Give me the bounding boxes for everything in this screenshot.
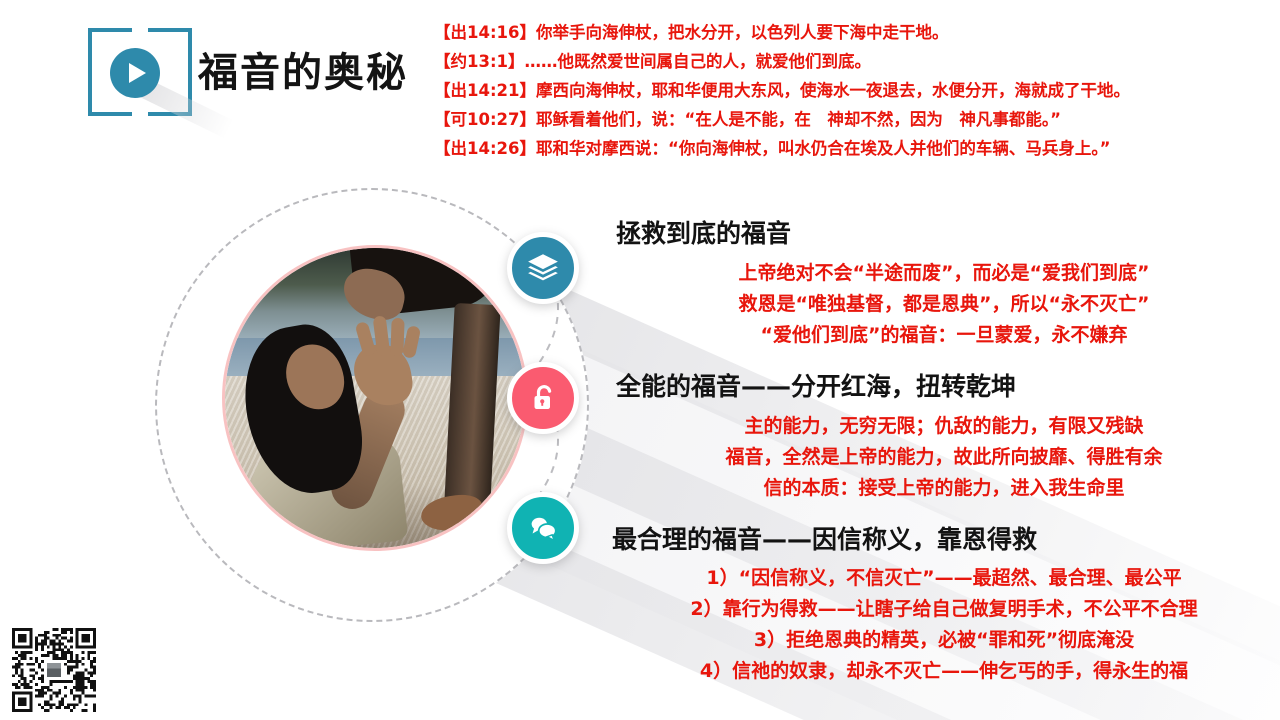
speech-bubbles-icon[interactable] — [507, 492, 579, 564]
scripture-list: 【出14:16】你举手向海伸杖，把水分开，以色列人要下海中走干地。 【约13:1… — [434, 18, 1280, 163]
unlock-icon[interactable] — [507, 362, 579, 434]
section-line: 福音，全然是上帝的能力，故此所向披靡、得胜有余 — [612, 442, 1276, 473]
section-body: 1）“因信称义，不信灭亡”——最超然、最合理、最公平 2）靠行为得救——让瞎子给… — [612, 563, 1276, 687]
section-line: 救恩是“唯独基督，都是恩典”，所以“永不灭亡” — [612, 289, 1276, 320]
slide-canvas: 福音的奥秘 【出14:16】你举手向海伸杖，把水分开，以色列人要下海中走干地。 … — [0, 0, 1280, 720]
layers-icon[interactable] — [507, 232, 579, 304]
section-line: 信的本质：接受上帝的能力，进入我生命里 — [612, 473, 1276, 504]
kneeling-woman-reaching-hand-photo — [225, 248, 525, 548]
section-line: 主的能力，无穷无限；仇敌的能力，有限又残缺 — [612, 411, 1276, 442]
logo-block: 福音的奥秘 — [88, 28, 438, 124]
section-line: 1）“因信称义，不信灭亡”——最超然、最合理、最公平 — [612, 563, 1276, 594]
page-title: 福音的奥秘 — [198, 40, 408, 98]
section-body: 上帝绝对不会“半途而废”，而必是“爱我们到底” 救恩是“唯独基督，都是恩典”，所… — [612, 258, 1276, 351]
scripture-line: 【出14:21】摩西向海伸杖，耶和华便用大东风，使海水一夜退去，水便分开，海就成… — [434, 76, 1280, 105]
section-body: 主的能力，无穷无限；仇敌的能力，有限又残缺 福音，全然是上帝的能力，故此所向披靡… — [612, 411, 1276, 504]
scripture-line: 【约13:1】……他既然爱世间属自己的人，就爱他们到底。 — [434, 47, 1280, 76]
section-line: “爱他们到底”的福音：一旦蒙爱，永不嫌弃 — [612, 320, 1276, 351]
section-line: 3）拒绝恩典的精英，必被“罪和死”彻底淹没 — [612, 625, 1276, 656]
qr-code[interactable] — [12, 628, 96, 712]
scripture-line: 【出14:26】耶和华对摩西说：“你向海伸杖，叫水仍合在埃及人并他们的车辆、马兵… — [434, 134, 1280, 163]
scripture-line: 【出14:16】你举手向海伸杖，把水分开，以色列人要下海中走干地。 — [434, 18, 1280, 47]
scripture-line: 【可10:27】耶稣看着他们，说：“在人是不能，在 神却不然，因为 神凡事都能。… — [434, 105, 1280, 134]
section-line: 4）信祂的奴隶，却永不灭亡——伸乞丐的手，得永生的福 — [612, 656, 1276, 687]
section-line: 2）靠行为得救——让瞎子给自己做复明手术，不公平不合理 — [612, 594, 1276, 625]
section-line: 上帝绝对不会“半途而废”，而必是“爱我们到底” — [612, 258, 1276, 289]
section-heading: 拯救到底的福音 — [616, 214, 791, 250]
section-heading: 全能的福音——分开红海，扭转乾坤 — [616, 367, 1016, 403]
section-heading: 最合理的福音——因信称义，靠恩得救 — [612, 520, 1037, 556]
qr-code-canvas — [12, 628, 96, 712]
play-button-icon — [110, 48, 160, 98]
photo-ring — [225, 248, 525, 548]
